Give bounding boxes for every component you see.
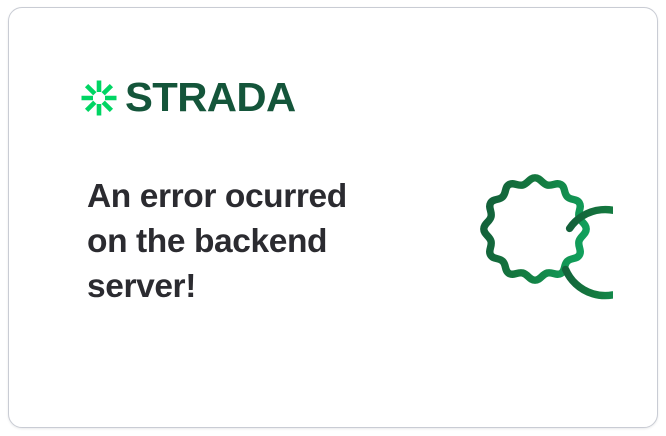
strada-asterisk-icon	[79, 78, 119, 118]
brand-logo: STRADA	[79, 74, 292, 122]
brand-wordmark: STRADA	[125, 77, 296, 120]
error-headline: An error ocurred on the backend server!	[87, 174, 387, 309]
error-page: STRADA An error ocurred on the backend s…	[0, 0, 666, 436]
error-card: STRADA An error ocurred on the backend s…	[8, 7, 658, 428]
gear-spinner-icon	[457, 151, 613, 307]
